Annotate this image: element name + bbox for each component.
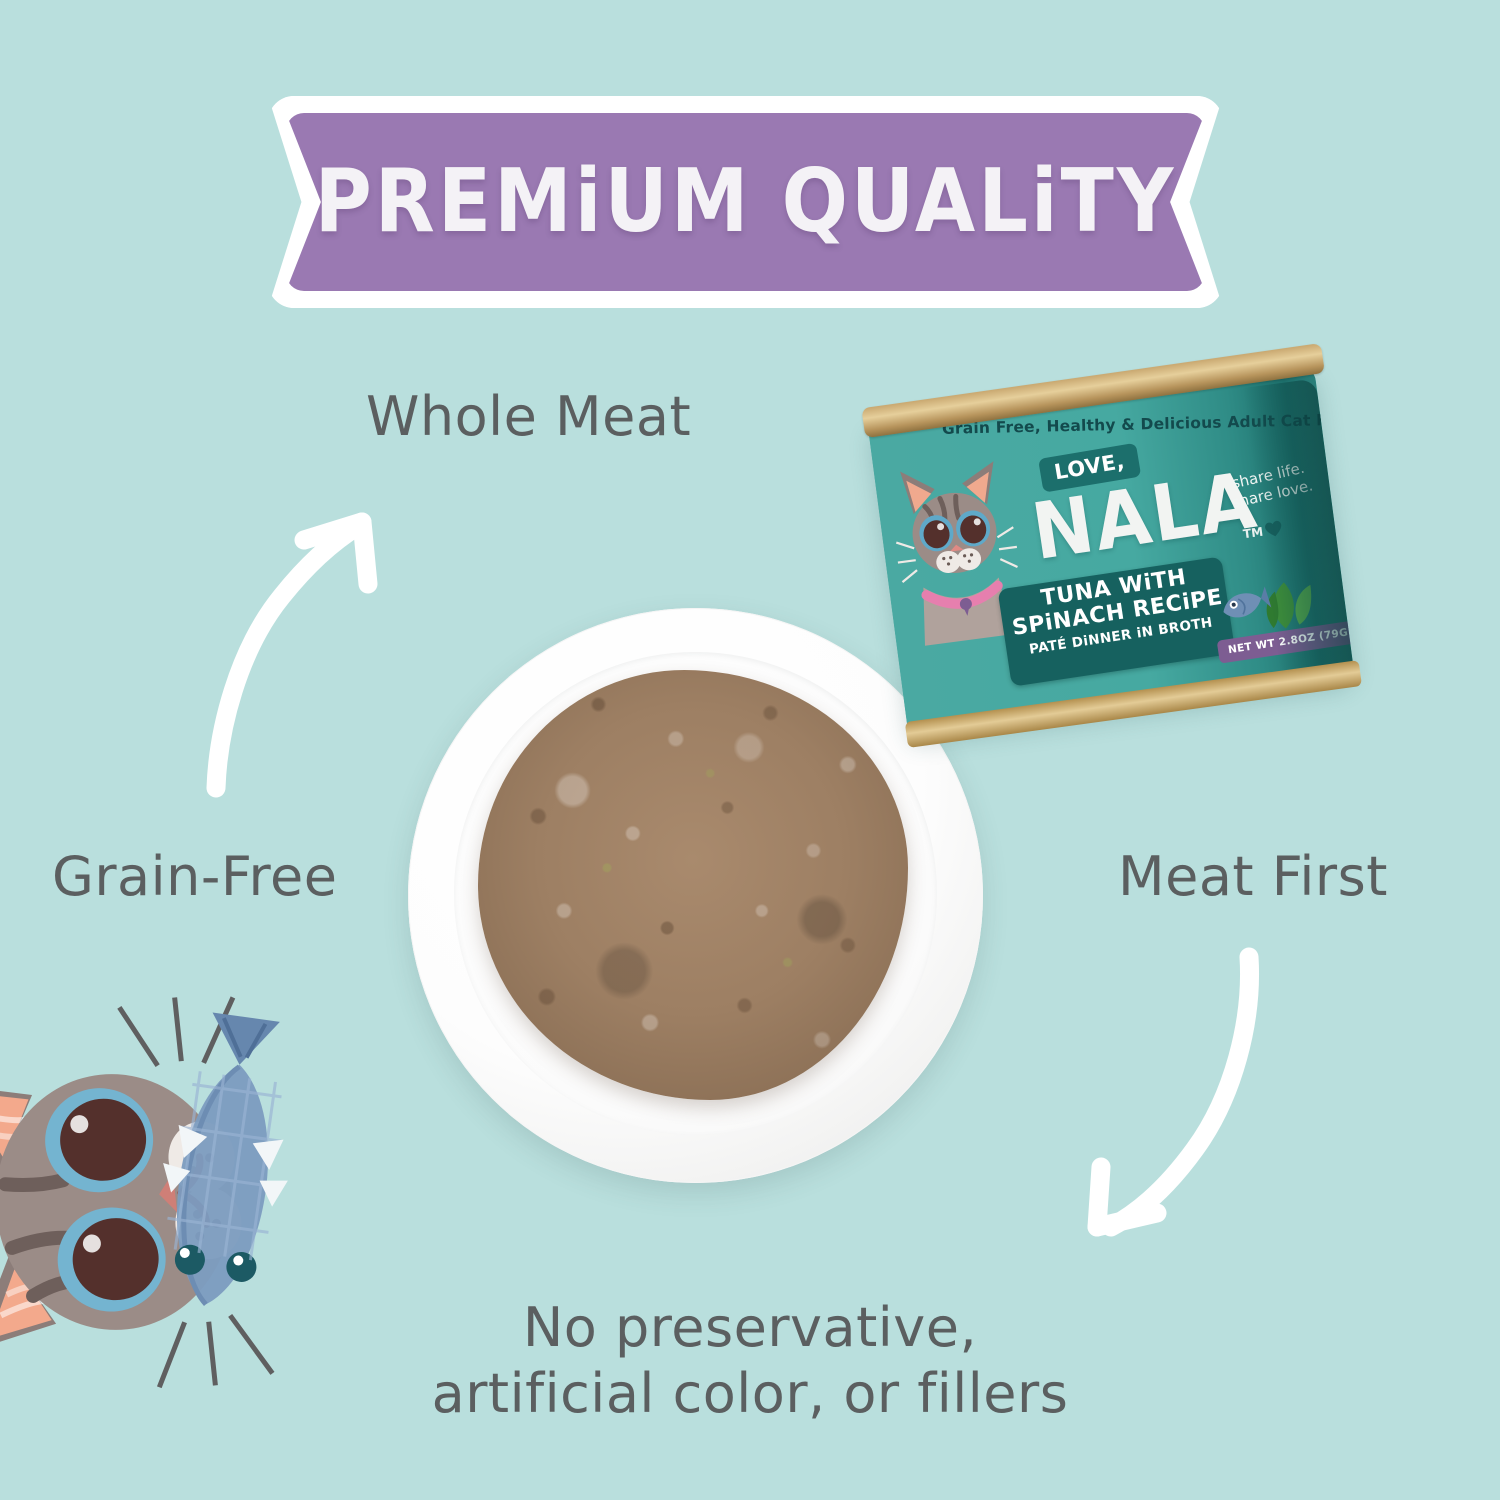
corner-cat-illustration-icon <box>0 975 332 1395</box>
curved-arrow-down-left-icon <box>1035 935 1280 1245</box>
banner-purple-fill: PREMiUM QUALiTY <box>286 113 1205 291</box>
product-can: Grain Free, Healthy & Delicious Adult Ca… <box>865 342 1397 755</box>
curved-arrow-up-right-icon <box>186 500 416 800</box>
feature-label-whole-meat: Whole Meat <box>366 385 691 448</box>
premium-quality-banner: PREMiUM QUALiTY <box>268 96 1223 308</box>
no-preservative-line-1: No preservative, <box>523 1296 977 1359</box>
banner-title: PREMiUM QUALiTY <box>315 152 1177 253</box>
feature-label-meat-first: Meat First <box>1118 845 1388 908</box>
feature-label-grain-free: Grain-Free <box>52 845 337 908</box>
marketing-image-stage: PREMiUM QUALiTY Whole Meat Grain-Free Me… <box>0 0 1500 1500</box>
